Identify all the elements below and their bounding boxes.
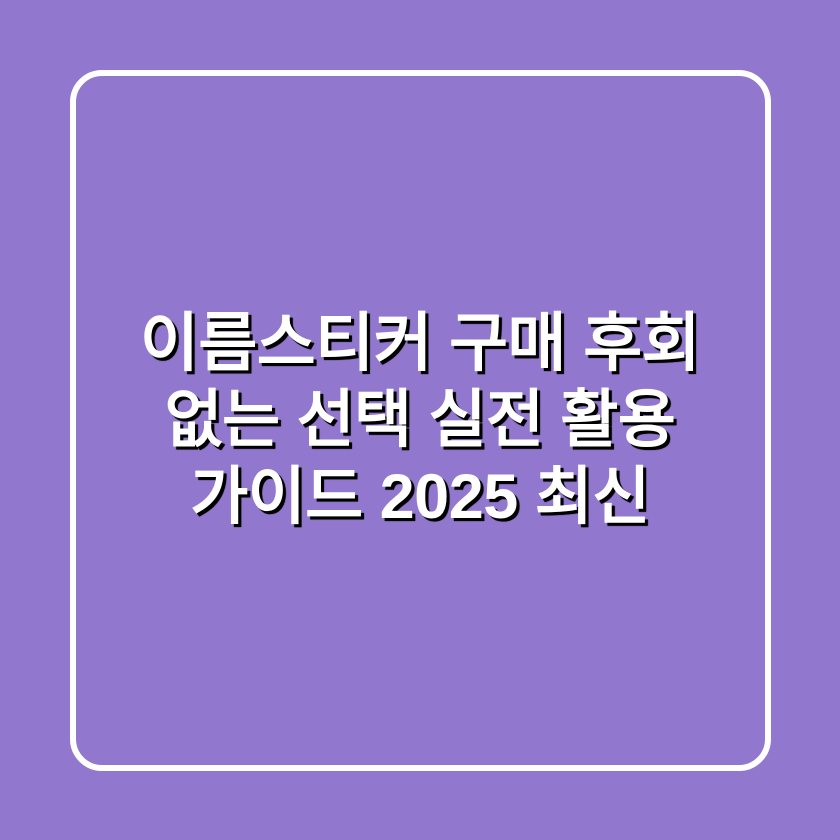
thumbnail-canvas: 이름스티커 구매 후회 없는 선택 실전 활용 가이드 2025 최신 xyxy=(0,0,840,840)
headline-line-2: 없는 선택 실전 활용 xyxy=(92,382,748,459)
headline-line-1: 이름스티커 구매 후회 xyxy=(92,305,748,382)
headline-block: 이름스티커 구매 후회 없는 선택 실전 활용 가이드 2025 최신 xyxy=(0,0,840,840)
headline-line-3: 가이드 2025 최신 xyxy=(92,459,748,536)
